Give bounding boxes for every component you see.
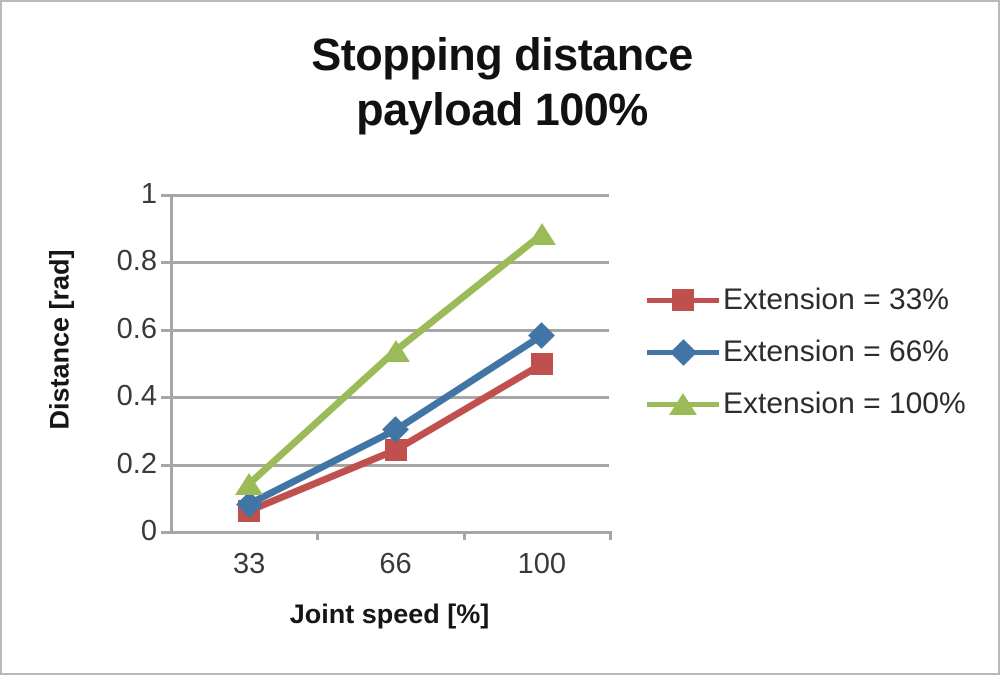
x-tick-mark (609, 531, 612, 540)
y-tick-label: 0.8 (117, 247, 157, 276)
y-tick-mark (161, 194, 170, 197)
y-tick-label: 0 (141, 517, 157, 546)
legend-label: Extension = 33% (723, 283, 949, 317)
x-axis-title: Joint speed [%] (170, 599, 609, 630)
chart-title: Stopping distance payload 100% (2, 28, 1000, 138)
x-tick-label: 66 (379, 550, 411, 579)
y-tick-label: 0.2 (117, 450, 157, 479)
data-point-marker-triangle (235, 473, 263, 495)
legend-marker-triangle (669, 393, 697, 415)
chart-screenshot: Stopping distance payload 100% Distance … (0, 0, 1000, 675)
legend-marker-square (672, 289, 694, 311)
legend-item[interactable]: Extension = 100% (647, 378, 992, 430)
y-tick-label: 1 (141, 180, 157, 209)
y-tick-mark (161, 464, 170, 467)
x-tick-label: 100 (518, 550, 566, 579)
plot-area (170, 194, 609, 531)
chart-legend: Extension = 33%Extension = 66%Extension … (647, 274, 992, 430)
data-point-marker-square (531, 353, 553, 375)
legend-item[interactable]: Extension = 33% (647, 274, 992, 326)
y-tick-mark (161, 396, 170, 399)
x-axis-tick-labels: 3366100 (170, 550, 609, 590)
legend-label: Extension = 66% (723, 335, 949, 369)
legend-swatch (647, 283, 719, 317)
chart-title-line-1: Stopping distance (311, 29, 693, 80)
legend-swatch (647, 387, 719, 421)
y-tick-label: 0.4 (117, 382, 157, 411)
y-tick-mark (161, 261, 170, 264)
x-tick-mark (463, 531, 466, 540)
y-axis-tick-labels: 00.20.40.60.81 (97, 194, 157, 531)
legend-marker-diamond (670, 339, 697, 366)
chart-title-line-2: payload 100% (2, 83, 1000, 138)
legend-swatch (647, 335, 719, 369)
y-tick-mark (161, 531, 170, 534)
legend-label: Extension = 100% (723, 387, 966, 421)
y-axis-title: Distance [rad] (45, 230, 76, 450)
x-tick-label: 33 (233, 550, 265, 579)
data-point-marker-triangle (528, 223, 556, 245)
data-point-marker-triangle (382, 340, 410, 362)
gridline (170, 531, 609, 534)
legend-item[interactable]: Extension = 66% (647, 326, 992, 378)
y-tick-mark (161, 329, 170, 332)
y-tick-label: 0.6 (117, 315, 157, 344)
x-tick-mark (316, 531, 319, 540)
